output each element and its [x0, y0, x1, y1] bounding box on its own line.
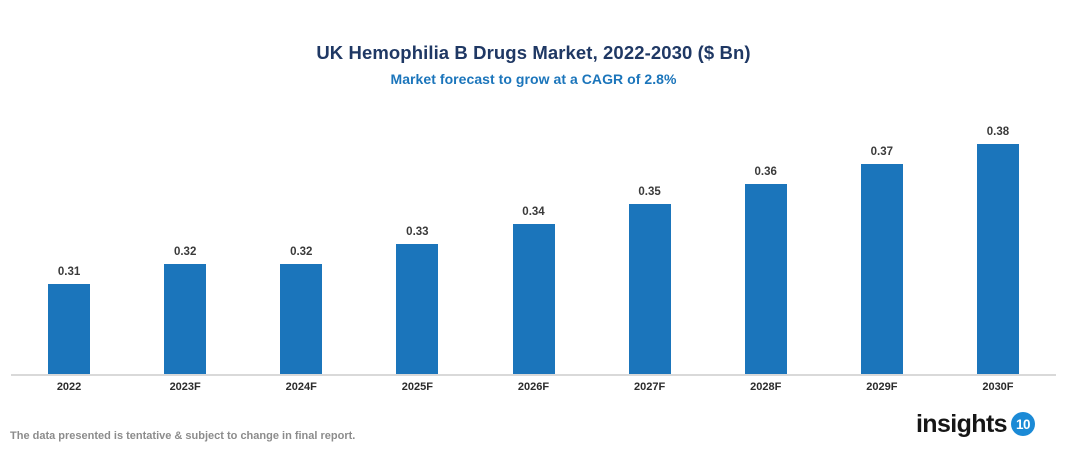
bar	[280, 264, 322, 374]
bar-column: 0.37	[861, 120, 903, 374]
x-axis-label: 2026F	[475, 379, 591, 395]
disclaimer-note: The data presented is tentative & subjec…	[10, 429, 355, 444]
chart-subtitle: Market forecast to grow at a CAGR of 2.8…	[0, 70, 1067, 89]
x-axis-label: 2028F	[708, 379, 824, 395]
bar-value-label: 0.38	[987, 126, 1009, 139]
x-axis-label: 2025F	[359, 379, 475, 395]
chart-title: UK Hemophilia B Drugs Market, 2022-2030 …	[0, 42, 1067, 64]
logo-wordmark: insights	[916, 411, 1007, 438]
bar	[396, 244, 438, 374]
chart-canvas: UK Hemophilia B Drugs Market, 2022-2030 …	[0, 0, 1067, 454]
bar-column: 0.33	[396, 120, 438, 374]
bar	[48, 284, 90, 374]
bar-column: 0.31	[48, 120, 90, 374]
bar-value-label: 0.32	[290, 246, 312, 259]
x-axis-label: 2022	[11, 379, 127, 395]
bar	[745, 184, 787, 374]
x-axis-label: 2027F	[592, 379, 708, 395]
x-axis-label: 2030F	[940, 379, 1056, 395]
x-axis-label: 2029F	[824, 379, 940, 395]
plot-area: 0.310.320.320.330.340.350.360.370.38	[11, 120, 1056, 374]
bar-value-label: 0.36	[755, 166, 777, 179]
bar-column: 0.32	[280, 120, 322, 374]
bar-value-label: 0.37	[871, 146, 893, 159]
bar-value-label: 0.33	[406, 226, 428, 239]
x-axis-label: 2024F	[243, 379, 359, 395]
bar-value-label: 0.35	[638, 186, 660, 199]
bar-column: 0.35	[629, 120, 671, 374]
bar	[164, 264, 206, 374]
insights10-logo: insights 10	[916, 409, 1035, 439]
x-axis-label: 2023F	[127, 379, 243, 395]
bar	[629, 204, 671, 374]
title-block: UK Hemophilia B Drugs Market, 2022-2030 …	[0, 42, 1067, 89]
logo-badge-icon: 10	[1011, 412, 1035, 436]
bar	[513, 224, 555, 374]
bar-column: 0.32	[164, 120, 206, 374]
bar-column: 0.38	[977, 120, 1019, 374]
bar	[861, 164, 903, 374]
bar-value-label: 0.31	[58, 266, 80, 279]
bar-value-label: 0.32	[174, 246, 196, 259]
x-axis-tick-labels: 20222023F2024F2025F2026F2027F2028F2029F2…	[11, 379, 1056, 399]
x-axis-line	[11, 374, 1056, 376]
bar-column: 0.34	[513, 120, 555, 374]
bar-column: 0.36	[745, 120, 787, 374]
bar	[977, 144, 1019, 374]
bar-value-label: 0.34	[522, 206, 544, 219]
bar-series: 0.310.320.320.330.340.350.360.370.38	[11, 120, 1056, 374]
